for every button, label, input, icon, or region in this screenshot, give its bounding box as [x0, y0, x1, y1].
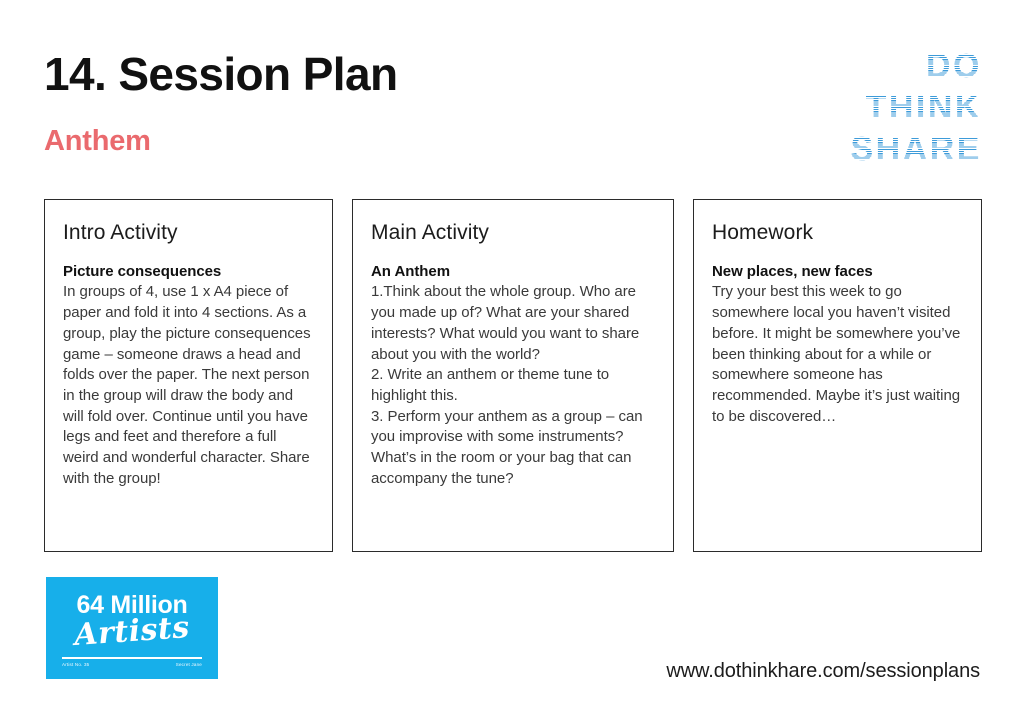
64-million-artists-logo: 64 Million Artists Artist No. 35 Secret … — [46, 577, 218, 679]
card-subtitle: An Anthem — [371, 262, 655, 282]
session-plan-slide: 14. Session Plan Anthem DO THINK SHARE I… — [0, 0, 1024, 724]
partner-logo-divider — [62, 657, 202, 659]
card-title: Intro Activity — [63, 220, 314, 245]
card-title: Main Activity — [371, 220, 655, 245]
card-body: In groups of 4, use 1 x A4 piece of pape… — [63, 282, 314, 489]
partner-logo-micro-right: Secret Jane — [176, 663, 202, 668]
card-subtitle: Picture consequences — [63, 262, 314, 282]
page-title: 14. Session Plan — [44, 50, 397, 98]
card-body: Try your best this week to go somewhere … — [712, 282, 963, 427]
logo-line-share: SHARE — [810, 129, 982, 170]
card-homework: Homework New places, new faces Try your … — [693, 199, 982, 552]
logo-line-think: THINK — [810, 87, 982, 128]
card-title: Homework — [712, 220, 963, 245]
card-body: 1.Think about the whole group. Who are y… — [371, 282, 655, 489]
partner-logo-microtext: Artist No. 35 Secret Jane — [62, 663, 202, 668]
do-think-share-logo: DO THINK SHARE — [810, 46, 982, 170]
card-intro-activity: Intro Activity Picture consequences In g… — [44, 199, 333, 552]
card-main-activity: Main Activity An Anthem 1.Think about th… — [352, 199, 674, 552]
page-subtitle: Anthem — [44, 126, 151, 158]
partner-logo-micro-left: Artist No. 35 — [62, 663, 89, 668]
card-subtitle: New places, new faces — [712, 262, 963, 282]
logo-line-do: DO — [810, 46, 982, 87]
activity-cards: Intro Activity Picture consequences In g… — [44, 199, 981, 552]
footer-url[interactable]: www.dothinkhare.com/sessionplans — [666, 660, 980, 683]
